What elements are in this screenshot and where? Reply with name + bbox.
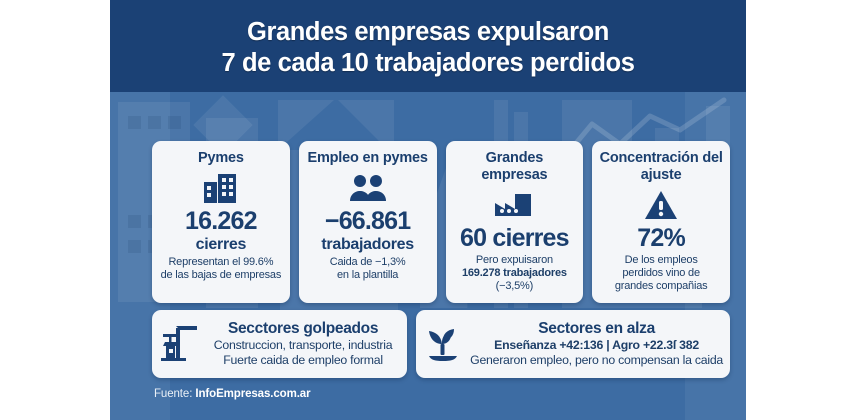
footer-source-name: InfoEmpresas.com.ar (195, 388, 310, 400)
bg-window-6 (128, 240, 141, 253)
office-building-icon (203, 171, 239, 205)
sector-card-title: Sectores en alza (470, 320, 723, 338)
stat-card-concentracion: Concentración del ajuste 72% De los empl… (592, 141, 730, 303)
stat-card-note-2: 169.278 trabajadores (462, 267, 567, 280)
stat-card-title: Concentración del ajuste (598, 150, 724, 184)
sector-card-alza: Sectores en alza Enseñanza +42:136 | Agr… (416, 310, 730, 378)
stat-card-note-1: De los empleos (625, 254, 698, 267)
bg-window-3 (168, 116, 181, 129)
footer-source: Fuente: InfoEmpresas.com.ar (154, 388, 310, 400)
stat-card-title: Empleo en pymes (307, 150, 427, 167)
stat-card-note-1: Caida de −1,3% (330, 256, 406, 269)
sector-card-line-1: Enseñanza +42:136 | Agro +22.3ſ 382 (470, 338, 723, 353)
stat-card-unit: cierres (196, 235, 246, 254)
title-line-1: Grandes empresas expulsaron (247, 17, 609, 48)
stat-card-note-2: perdidos vino de (622, 267, 700, 280)
bg-window-2 (148, 116, 161, 129)
title-line-2: 7 de cada 10 trabajadores perdidos (222, 48, 635, 79)
stat-card-empleo-pymes: Empleo en pymes −66.861 trabajadores Cai… (299, 141, 437, 303)
stat-card-value: −66.861 (325, 207, 410, 235)
bottom-cards-row: Secctores golpeados Construccion, transp… (152, 310, 730, 378)
stat-card-note-2: de las bajas de empresas (161, 269, 282, 282)
stat-card-note-3: (−3,5%) (496, 280, 533, 293)
stat-card-value: 72% (637, 224, 685, 252)
poster-canvas: Grandes empresas expulsaron 7 de cada 10… (110, 0, 746, 420)
stat-card-note-2: en la plantilla (337, 269, 398, 282)
bg-window-4 (128, 215, 141, 228)
sector-card-line-2: Generaron empleo, pero no compensan la c… (470, 353, 723, 368)
sector-card-line-2: Fuerte caida de empleo formal (206, 353, 400, 368)
header-banner: Grandes empresas expulsaron 7 de cada 10… (110, 0, 746, 92)
stat-card-unit: trabajadores (321, 235, 413, 254)
footer-label: Fuente: (154, 388, 195, 400)
stat-cards-row: Pymes 16.262 c (152, 141, 730, 303)
sector-card-golpeados: Secctores golpeados Construccion, transp… (152, 310, 407, 378)
crane-icon (159, 324, 199, 364)
stat-card-note-1: Representan el 99.6% (168, 256, 273, 269)
two-people-icon (348, 171, 388, 205)
stat-card-value: 60 cierres (460, 224, 569, 252)
stat-card-note-1: Pero expuisaron (476, 254, 553, 267)
sector-card-line-1: Construccion, transporte, industria (206, 338, 400, 353)
stat-card-grandes-empresas: Grandes empresas 60 cierres Pero expuisa… (446, 141, 584, 303)
stat-card-title: Pymes (198, 150, 244, 167)
stat-card-title: Grandes empresas (452, 150, 578, 184)
stat-card-value: 16.262 (185, 207, 257, 235)
bg-window-1 (128, 116, 141, 129)
sector-card-title: Secctores golpeados (206, 320, 400, 338)
sprout-icon (423, 326, 463, 362)
stat-card-pymes: Pymes 16.262 c (152, 141, 290, 303)
stat-card-note-2-strong: 169.278 trabajadores (462, 267, 567, 279)
warning-triangle-icon (644, 188, 678, 222)
infographic-root: Grandes empresas expulsaron 7 de cada 10… (0, 0, 854, 420)
stat-card-note-3: grandes compañias (615, 280, 708, 293)
factory-icon (493, 188, 535, 222)
